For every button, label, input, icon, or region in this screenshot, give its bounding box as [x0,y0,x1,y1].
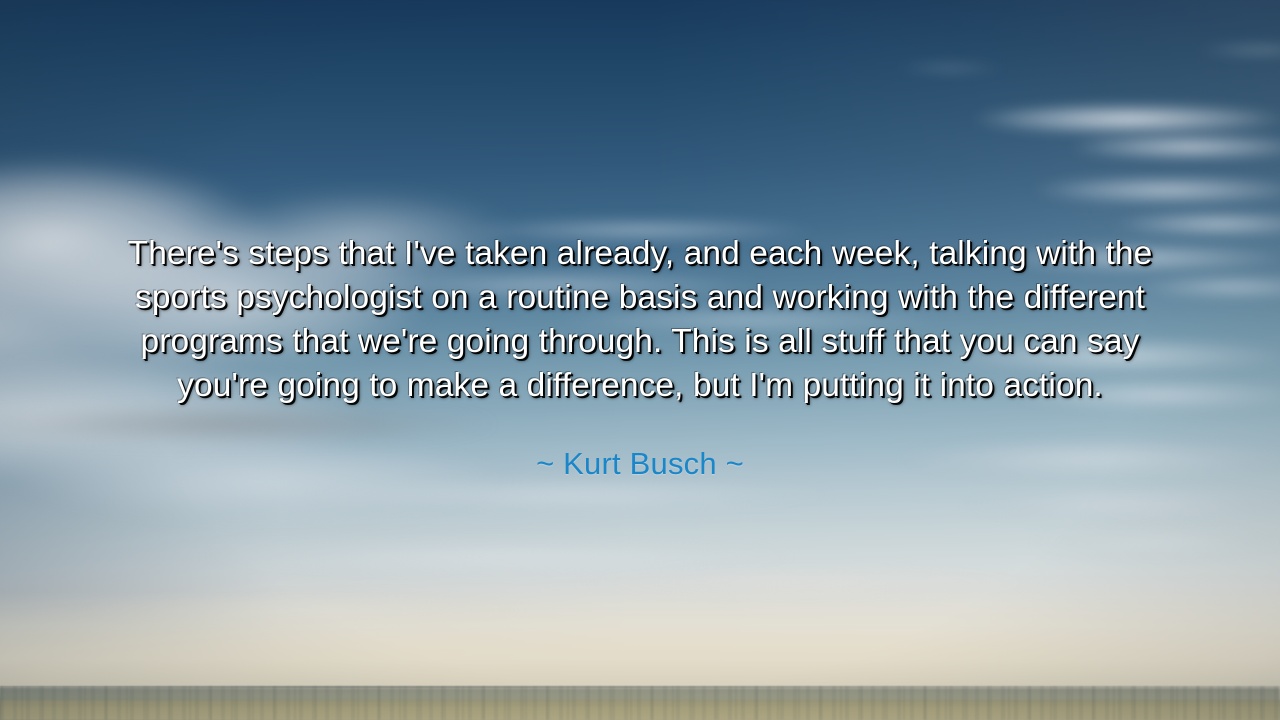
quote-author: ~ Kurt Busch ~ [536,446,744,482]
quote-text: There's steps that I've taken already, a… [110,232,1170,408]
quote-image-card: There's steps that I've taken already, a… [0,0,1280,720]
quote-content: There's steps that I've taken already, a… [0,0,1280,720]
